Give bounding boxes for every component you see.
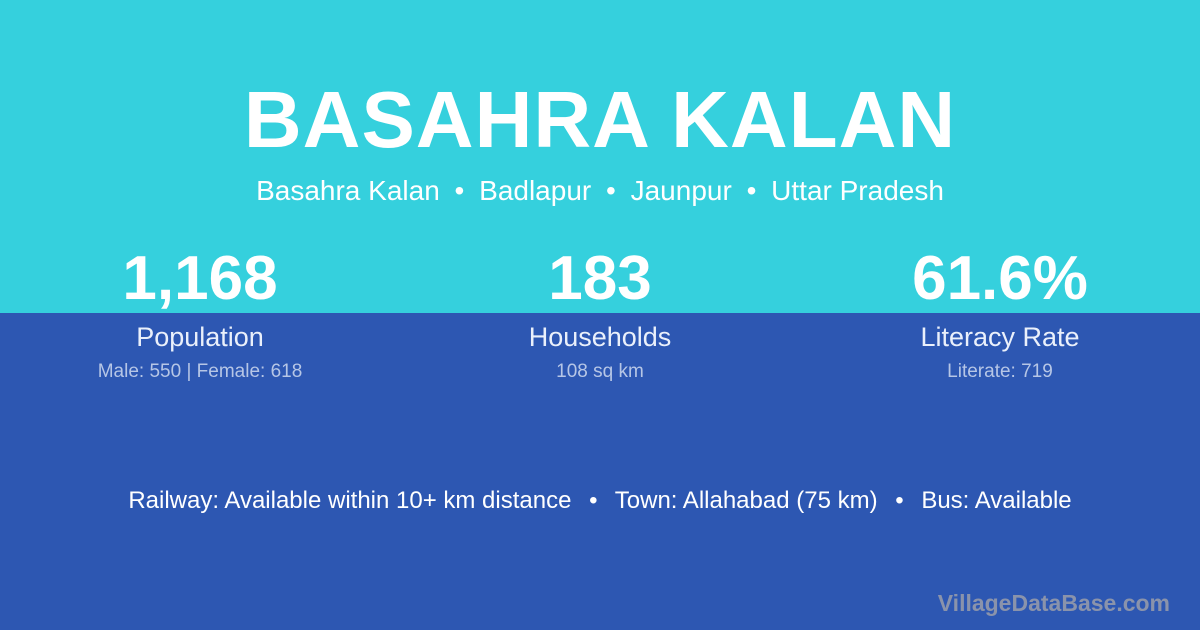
stat-label: Literacy Rate	[800, 322, 1200, 352]
stat-label: Households	[400, 322, 800, 352]
amenity-town: Town: Allahabad (75 km)	[615, 487, 878, 514]
amenity-railway: Railway: Available within 10+ km distanc…	[128, 487, 571, 514]
breadcrumb-separator-icon: •	[599, 175, 623, 206]
site-brand-watermark: VillageDataBase.com	[938, 589, 1170, 617]
amenities-summary: Railway: Available within 10+ km distanc…	[0, 486, 1200, 516]
stat-value: 1,168	[0, 248, 400, 310]
page-title: BASAHRA KALAN	[0, 78, 1200, 162]
stat-value: 61.6%	[800, 248, 1200, 310]
stat-sublabel: 108 sq km	[400, 361, 800, 383]
stat-literacy-rate: 61.6% Literacy Rate Literate: 719	[800, 248, 1200, 383]
card-header: BASAHRA KALAN Basahra Kalan • Badlapur •…	[0, 0, 1200, 208]
breadcrumb: Basahra Kalan • Badlapur • Jaunpur • Utt…	[0, 174, 1200, 208]
breadcrumb-state: Uttar Pradesh	[771, 175, 944, 206]
amenity-bus: Bus: Available	[921, 487, 1071, 514]
stat-households: 183 Households 108 sq km	[400, 248, 800, 383]
stats-row: 1,168 Population Male: 550 | Female: 618…	[0, 248, 1200, 383]
breadcrumb-block: Badlapur	[479, 175, 591, 206]
breadcrumb-district: Jaunpur	[631, 175, 732, 206]
stat-sublabel: Male: 550 | Female: 618	[0, 361, 400, 383]
stat-sublabel: Literate: 719	[800, 361, 1200, 383]
stat-population: 1,168 Population Male: 550 | Female: 618	[0, 248, 400, 383]
amenity-separator-icon: •	[578, 487, 608, 514]
breadcrumb-separator-icon: •	[740, 175, 764, 206]
stat-value: 183	[400, 248, 800, 310]
amenity-separator-icon: •	[884, 487, 914, 514]
village-info-card: BASAHRA KALAN Basahra Kalan • Badlapur •…	[0, 0, 1200, 630]
stat-label: Population	[0, 322, 400, 352]
breadcrumb-village: Basahra Kalan	[256, 175, 440, 206]
breadcrumb-separator-icon: •	[448, 175, 472, 206]
